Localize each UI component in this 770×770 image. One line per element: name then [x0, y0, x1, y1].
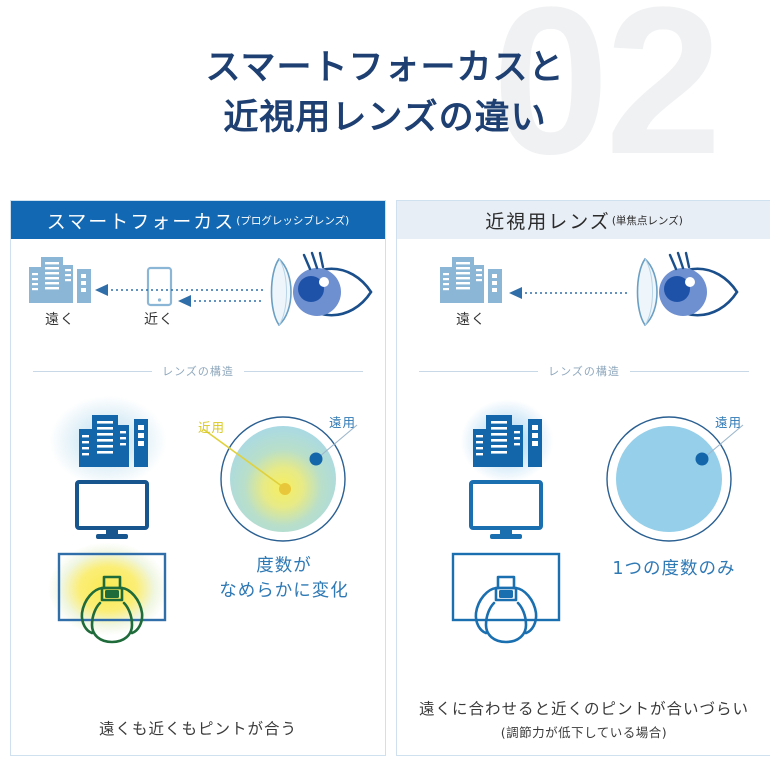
- arrow-far-head: [509, 287, 522, 299]
- tag-near-use-left: 近用: [198, 417, 225, 436]
- smartphone-icon: [148, 268, 171, 305]
- lens-block-left: 近用 遠用 度数が なめらかに変化: [11, 379, 385, 679]
- comparison-panels: スマートフォーカス (プログレッシブレンズ): [10, 200, 760, 756]
- panel-header-single-vision: 近視用レンズ (単焦点レンズ): [397, 201, 770, 239]
- lens-icon: [638, 259, 658, 325]
- lens-caption-right-line1: 1つの度数のみ: [612, 559, 735, 579]
- panel-footer-left: 遠くも近くもピントが合う: [11, 717, 385, 739]
- eye-diagram-svg-right: [397, 239, 770, 357]
- arrow-far-head: [95, 284, 108, 296]
- lens-icon: [272, 259, 292, 325]
- eye-icon: [293, 253, 371, 316]
- panel-title-single-vision: 近視用レンズ: [485, 207, 611, 234]
- divider-label-right: レンズの構造: [548, 363, 620, 379]
- title-line-1: スマートフォーカスと: [206, 48, 565, 88]
- panel-smart-focus: スマートフォーカス (プログレッシブレンズ): [10, 200, 386, 756]
- footer-line-1-right: 遠くに合わせると近くのピントが合いづらい: [397, 697, 770, 719]
- person-smartphone-icon: [56, 551, 168, 645]
- divider-line-right-b: [630, 371, 749, 372]
- eye-diagram-smart-focus: 遠く 近く: [11, 239, 385, 357]
- panel-title-smart-focus: スマートフォーカス: [47, 207, 235, 234]
- divider-line-right-a: [419, 371, 538, 372]
- footer-line-1-left: 遠くも近くもピントが合う: [11, 717, 385, 739]
- divider-label-left: レンズの構造: [162, 363, 234, 379]
- panel-subtitle-single-vision: (単焦点レンズ): [612, 213, 683, 228]
- lens-callouts-left: [161, 409, 371, 559]
- panel-footer-right: 遠くに合わせると近くのピントが合いづらい (調節力が低下している場合): [397, 697, 770, 741]
- lens-block-right: 遠用 1つの度数のみ: [397, 379, 770, 679]
- buildings-icon: [77, 407, 149, 469]
- monitor-icon: [74, 479, 150, 541]
- panel-header-smart-focus: スマートフォーカス (プログレッシブレンズ): [11, 201, 385, 239]
- eye-icon: [659, 253, 737, 316]
- tag-far-use-right: 遠用: [715, 412, 742, 431]
- monitor-icon: [468, 479, 544, 541]
- title-line-2: 近視用レンズの違い: [0, 94, 770, 144]
- page-title: スマートフォーカスと 近視用レンズの違い: [0, 44, 770, 143]
- lens-caption-right: 1つの度数のみ: [589, 557, 759, 582]
- person-smartphone-icon: [450, 551, 562, 645]
- buildings-icon: [29, 257, 91, 303]
- divider-line-left-b: [244, 371, 363, 372]
- panel-single-vision: 近視用レンズ (単焦点レンズ): [396, 200, 770, 756]
- footer-line-2-right: (調節力が低下している場合): [397, 722, 770, 741]
- label-far-left: 遠く: [45, 309, 75, 329]
- lens-caption-left-line1: 度数が: [256, 556, 312, 576]
- divider-line-left-a: [33, 371, 152, 372]
- divider-lens-structure-left: レンズの構造: [33, 363, 363, 379]
- label-near-left: 近く: [144, 309, 174, 329]
- lens-caption-left: 度数が なめらかに変化: [209, 554, 359, 605]
- tag-far-use-left: 遠用: [329, 412, 356, 431]
- infographic-stage: 02 スマートフォーカスと 近視用レンズの違い スマートフォーカス (プログレッ…: [0, 0, 770, 770]
- arrow-near-head: [178, 295, 191, 307]
- eye-diagram-single-vision: 遠く: [397, 239, 770, 357]
- eye-diagram-svg-left: [11, 239, 385, 357]
- divider-lens-structure-right: レンズの構造: [419, 363, 749, 379]
- lens-caption-left-line2: なめらかに変化: [219, 581, 349, 601]
- buildings-icon: [471, 407, 543, 469]
- panel-subtitle-smart-focus: (プログレッシブレンズ): [236, 213, 349, 228]
- label-far-right: 遠く: [456, 309, 486, 329]
- lens-callouts-right: [547, 409, 757, 559]
- buildings-icon: [440, 257, 502, 303]
